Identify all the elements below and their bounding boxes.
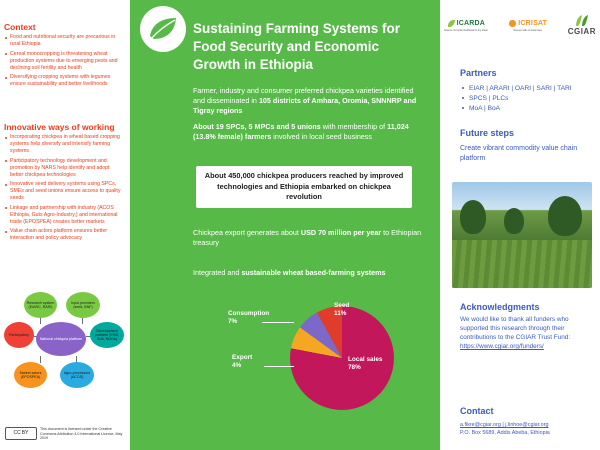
acknowledgments-text: We would like to thank all funders who s… [460,316,596,352]
cc-label: CC [14,431,21,436]
left-column: Context Food and nutritional security ar… [0,0,130,450]
cgiar-logo-text: CGIAR [568,27,596,36]
chickpea-use-pie-chart: Consumption 7% Export 4% Seed 11% Local … [206,292,436,432]
callout-line-1: About 450,000 chickpea producers reached… [205,171,368,180]
list-item: Cereal monocropping is threatening wheat… [4,51,124,72]
page-title: Sustaining Farming Systems for Food Secu… [193,20,421,74]
logo-strip: ICARDA Science for better livelihoods in… [444,8,596,42]
context-list: Food and nutritional security are precar… [4,34,124,91]
diagram-node-platform: National chickpea platform [36,322,86,356]
paragraph-systems: Integrated and sustainable wheat based-f… [193,268,427,278]
diagram-node-agro: Agro-processors (ACOS) [60,362,94,388]
creative-commons-icon: CC BY [5,427,37,440]
cgiar-leaves-icon [574,14,590,27]
pie-label-seed-value: 11% [334,310,346,317]
pie-label-export-name: Export [232,354,252,361]
diagram-node-participatory: Participatory [4,322,34,348]
paragraph-export-pre: Chickpea export generates about [193,228,301,237]
diagram-node-market: Market actors (EPOSPEA) [14,362,47,388]
list-item: SPCS | PLCs [462,94,600,104]
field-photo [452,182,592,288]
pie-label-local-sales-name: Local sales [348,356,382,363]
license-text: This document is licensed under the Crea… [40,427,123,441]
list-item: Incorporating chickpea in wheat based cr… [4,134,124,155]
icarda-logo: ICARDA Science for better livelihoods in… [444,19,488,32]
icrisat-logo-tagline: Science with a human face [513,29,542,32]
future-steps-heading: Future steps [460,128,514,138]
pie-label-export: Export 4% [232,354,252,371]
paragraph-spcs-bold1: About 19 SPCs, 5 MPCs and 5 unions [193,122,321,131]
pie-label-export-value: 4% [232,362,241,369]
license-block: CC BY This document is licensed under th… [5,427,123,441]
leaf-in-circle-icon [140,6,186,52]
icrisat-logo-text: ICRISAT [518,20,547,27]
acknowledgments-heading: Acknowledgments [460,302,540,312]
partnership-diagram: Research system (EIARC, RARI) Input prov… [4,292,126,410]
partners-list: EIAR | ARARI | OARI | SARI | TARI SPCS |… [462,84,600,114]
context-heading: Context [4,22,36,32]
innovative-list: Incorporating chickpea in wheat based cr… [4,134,124,245]
pie-label-local-sales: Local sales 78% [348,356,382,373]
paragraph-spcs: About 19 SPCs, 5 MPCs and 5 unions with … [193,122,427,142]
leader-line-export [264,366,294,367]
diagram-node-research: Research system (EIARC, RARI) [24,292,57,318]
leaf-icon [148,16,178,42]
icrisat-logo: ICRISAT Science with a human face [508,19,547,32]
pie-label-seed-name: Seed [334,302,349,309]
list-item: Linkage and partnership with industry (A… [4,205,124,226]
crop-field-shape [452,240,592,288]
diagram-node-input: Input providers (seed, BNF) [66,292,100,318]
pie-label-consumption-value: 7% [228,318,237,325]
pie-label-consumption-name: Consumption [228,310,269,317]
pie-label-seed: Seed 11% [334,302,349,319]
paragraph-systems-pre: Integrated and [193,268,241,277]
icarda-logo-text: ICARDA [457,20,485,27]
paragraph-export: Chickpea export generates about USD 70 m… [193,228,427,248]
innovative-heading: Innovative ways of working [4,122,115,132]
list-item: Food and nutritional security are precar… [4,34,124,48]
list-item: MoA | BoA [462,104,600,114]
contact-heading: Contact [460,406,494,416]
paragraph-spcs-end: involved in local seed business [271,132,372,141]
contact-block: a.fikre@cgiar.org | j.linhoe@cgiar.org P… [460,422,596,438]
icrisat-mark-icon [508,19,517,28]
icarda-leaf-icon [447,19,456,28]
callout-box: About 450,000 chickpea producers reached… [196,166,412,208]
future-steps-text: Create vibrant commodity value chain pla… [460,144,596,164]
list-item: Participatory technology development and… [4,158,124,179]
partners-heading: Partners [460,68,497,78]
list-item: Innovative seed delivery systems using S… [4,181,124,202]
paragraph-spcs-mid: with membership of [321,122,387,131]
tree-shape [548,196,582,236]
icarda-logo-tagline: Science for better livelihoods in dry ar… [444,29,488,32]
paragraph-varieties: Farmer, industry and consumer preferred … [193,86,427,117]
list-item: Diversifying cropping systems with legum… [4,74,124,88]
acknowledgments-body: We would like to thank all funders who s… [460,316,570,341]
cgiar-logo: CGIAR [568,14,596,36]
tree-shape [504,208,524,234]
contact-address: P.O. Box 5689, Addis Abeba, Ethiopia [460,430,550,436]
paragraph-export-bold: USD 70 million per year [301,228,381,237]
pie-label-consumption: Consumption 7% [228,310,269,327]
list-item: EIAR | ARARI | OARI | SARI | TARI [462,84,600,94]
contact-email-link[interactable]: a.fikre@cgiar.org | j.linhoe@cgiar.org [460,422,548,428]
pie-label-local-sales-value: 78% [348,364,361,371]
list-item: Value chain actors platform ensures bett… [4,228,124,242]
diagram-node-development: Development partners (IFAD, BoA, NGOs) [90,322,124,348]
poster-root: Context Food and nutritional security ar… [0,0,600,450]
paragraph-systems-bold: sustainable wheat based-farming systems [241,268,385,277]
cgiar-funders-link[interactable]: https://www.cgiar.org/funders/ [460,343,544,350]
by-label: BY [22,431,29,436]
tree-shape [460,200,486,234]
